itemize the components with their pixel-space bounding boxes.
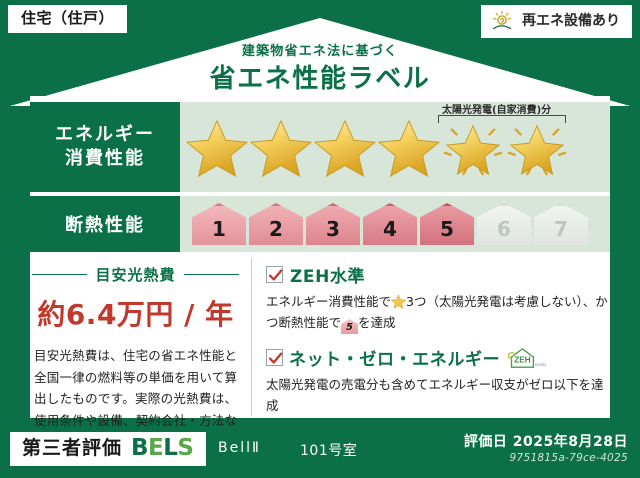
heading-rule-left bbox=[32, 274, 87, 275]
checkbox-checked-icon bbox=[266, 349, 283, 366]
bels-certification-box: 第三者評価 BELS bbox=[10, 432, 206, 466]
bels-logo: BELS bbox=[131, 437, 193, 460]
energy-stars-area: 太陽光発電(自家消費)分 bbox=[180, 102, 610, 192]
insulation-badge-value: 6 bbox=[497, 217, 511, 241]
checkbox-checked-icon bbox=[266, 266, 283, 283]
star-icon bbox=[250, 118, 312, 178]
title-subtitle: 建築物省エネ法に基づく bbox=[0, 40, 640, 59]
lower-section: 目安光熱費 約6.4万円 / 年 目安光熱費は、住宅の省エネ性能と全国一律の燃料… bbox=[30, 258, 610, 416]
insulation-badge-value: 5 bbox=[440, 217, 454, 241]
page-title: 省エネ性能ラベル bbox=[0, 58, 640, 95]
insulation-performance-row: 断熱性能 1 2 3 4 bbox=[30, 196, 610, 252]
energy-cost-value: 約6.4万円 / 年 bbox=[30, 293, 241, 333]
building-name: BellⅡ bbox=[218, 440, 261, 456]
star-icon-solar bbox=[506, 118, 568, 178]
star-icon-solar bbox=[442, 118, 504, 178]
net-zero-energy-block: ネット・ゼロ・エネルギー ZEH nearly 太陽光発電の売電分も含めてエネル… bbox=[266, 345, 610, 416]
energy-label-line1: エネルギー bbox=[55, 123, 155, 147]
star-icon bbox=[378, 118, 440, 178]
insulation-badge-value: 2 bbox=[269, 217, 283, 241]
category-tag: 住宅（住戸） bbox=[8, 5, 127, 33]
renewable-equipment-label: 再エネ設備あり bbox=[522, 14, 620, 28]
label-content-panel: エネルギー 消費性能 太陽光発電(自家消費)分 bbox=[30, 100, 610, 416]
heading-rule-right bbox=[184, 274, 239, 275]
evaluation-id: 9751815a-79ce-4025 bbox=[510, 452, 629, 464]
zeh-standard-body: エネルギー消費性能で3つ（太陽光発電は考慮しない）、かつ断熱性能で5を達成 bbox=[266, 291, 610, 334]
solar-generation-caption: 太陽光発電(自家消費)分 bbox=[442, 101, 551, 116]
evaluation-date-label: 評価日 bbox=[464, 434, 508, 450]
insulation-badge-inline-value: 5 bbox=[346, 322, 353, 333]
net-zero-energy-heading: ネット・ゼロ・エネルギー ZEH nearly bbox=[266, 345, 610, 370]
insulation-badge-value: 1 bbox=[212, 217, 226, 241]
insulation-badge-4: 4 bbox=[363, 203, 417, 245]
insulation-badge-6: 6 bbox=[477, 203, 531, 245]
zeh-standard-heading: ZEH水準 bbox=[266, 262, 610, 287]
energy-cost-heading: 目安光熱費 bbox=[30, 264, 241, 285]
net-zero-energy-title: ネット・ゼロ・エネルギー bbox=[289, 345, 500, 370]
insulation-badge-value: 3 bbox=[326, 217, 340, 241]
insulation-badge-7: 7 bbox=[534, 203, 588, 245]
insulation-level-scale: 1 2 3 4 5 bbox=[180, 196, 610, 252]
zeh-standard-title: ZEH水準 bbox=[290, 262, 365, 287]
zeh-house-logo-icon: ZEH nearly bbox=[506, 347, 548, 369]
room-number: 101号室 bbox=[300, 440, 357, 460]
energy-performance-row: エネルギー 消費性能 太陽光発電(自家消費)分 bbox=[30, 102, 610, 192]
label-footer: 第三者評価 BELS BellⅡ 101号室 評価日 2025年8月28日 97… bbox=[0, 422, 640, 478]
star-icon bbox=[314, 118, 376, 178]
energy-label-root: 住宅（住戸） 再エネ設備あり 建築物省エネ法に基づく 省エネ性能ラベル エネルギ… bbox=[0, 0, 640, 478]
insulation-badge-2: 2 bbox=[249, 203, 303, 245]
energy-cost-heading-text: 目安光熱費 bbox=[95, 264, 175, 285]
energy-stars-row bbox=[186, 118, 568, 178]
insulation-badge-5: 5 bbox=[420, 203, 474, 245]
star-icon bbox=[186, 118, 248, 178]
svg-text:ZEH: ZEH bbox=[514, 355, 530, 364]
net-zero-energy-body: 太陽光発電の売電分も含めてエネルギー収支がゼロ以下を達成 bbox=[266, 374, 610, 416]
evaluation-date: 評価日 2025年8月28日 bbox=[464, 431, 628, 451]
insulation-badge-value: 4 bbox=[383, 217, 397, 241]
energy-cost-section: 目安光熱費 約6.4万円 / 年 目安光熱費は、住宅の省エネ性能と全国一律の燃料… bbox=[30, 258, 252, 416]
svg-text:nearly: nearly bbox=[535, 362, 547, 367]
insulation-badge-value: 7 bbox=[554, 217, 568, 241]
insulation-badge-inline: 5 bbox=[341, 319, 358, 334]
insulation-badge-3: 3 bbox=[306, 203, 360, 245]
zeh-section: ZEH水準 エネルギー消費性能で3つ（太陽光発電は考慮しない）、かつ断熱性能で5… bbox=[252, 258, 610, 416]
energy-label-line2: 消費性能 bbox=[65, 147, 145, 171]
zeh-body-part1: エネルギー消費性能で bbox=[266, 294, 391, 309]
insulation-badge-1: 1 bbox=[192, 203, 246, 245]
third-party-evaluation-label: 第三者評価 bbox=[22, 439, 122, 458]
energy-performance-label: エネルギー 消費性能 bbox=[30, 102, 180, 192]
insulation-performance-label: 断熱性能 bbox=[30, 196, 180, 252]
renewable-equipment-tag: 再エネ設備あり bbox=[481, 5, 632, 38]
evaluation-date-value: 2025年8月28日 bbox=[513, 434, 628, 450]
zeh-body-part3: を達成 bbox=[358, 315, 396, 330]
sun-icon bbox=[491, 10, 515, 32]
star-icon-inline bbox=[391, 294, 406, 309]
